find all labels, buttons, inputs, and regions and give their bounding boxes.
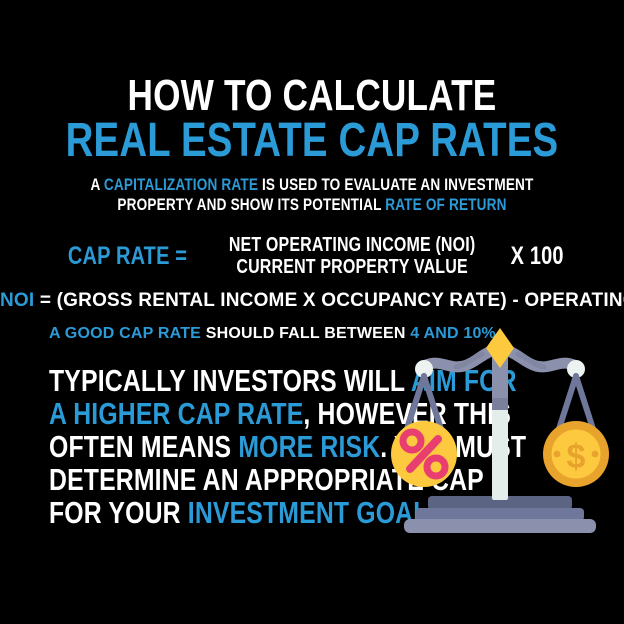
body-highlight-higher-cap-rate: A HIGHER CAP RATE [49, 396, 303, 431]
subtitle-line-1: A CAPITALIZATION RATE IS USED TO EVALUAT… [62, 175, 561, 195]
body-text-3a: OFTEN MEANS [49, 429, 238, 464]
balance-scale-illustration: $ [386, 322, 614, 544]
percent-coin-icon [391, 421, 457, 487]
good-cap-rate-highlight: A GOOD CAP RATE [49, 325, 201, 342]
svg-text:$: $ [567, 438, 586, 476]
body-highlight-more-risk: MORE RISK [238, 429, 380, 464]
body-line-4: DETERMINE AN APPROPRIATE CAP [49, 463, 385, 496]
scale-base-icon [404, 496, 596, 533]
scale-column-joint-icon [492, 398, 508, 410]
dollar-coin-icon: $ [543, 421, 609, 487]
diamond-ornament-icon [486, 328, 514, 368]
noi-label: NOI [0, 290, 34, 311]
formula-fraction: NET OPERATING INCOME (NOI) CURRENT PROPE… [198, 234, 506, 278]
cap-rate-formula: CAP RATE = NET OPERATING INCOME (NOI) CU… [0, 234, 624, 278]
body-line-2: A HIGHER CAP RATE, HOWEVER THIS [49, 397, 385, 430]
page-title: HOW TO CALCULATE REAL ESTATE CAP RATES [0, 76, 624, 164]
noi-definition: NOI = (GROSS RENTAL INCOME X OCCUPANCY R… [0, 290, 624, 312]
body-text-5a: FOR YOUR [49, 495, 188, 530]
formula-lead-label: CAP RATE = [68, 243, 187, 269]
title-line-2: REAL ESTATE CAP RATES [62, 118, 561, 164]
scale-column-lower-icon [492, 408, 508, 500]
noi-definition-inner: NOI = (GROSS RENTAL INCOME X OCCUPANCY R… [0, 290, 624, 311]
subtitle-text-a: A [90, 175, 103, 194]
noi-expression: = (GROSS RENTAL INCOME X OCCUPANCY RATE)… [34, 290, 624, 311]
body-line-1: TYPICALLY INVESTORS WILL AIM FOR [49, 364, 385, 397]
subtitle-text-d: PROPERTY AND SHOW ITS POTENTIAL [117, 195, 385, 214]
formula-denominator: CURRENT PROPERTY VALUE [229, 256, 476, 278]
formula-multiplier: X 100 [511, 243, 564, 269]
subtitle: A CAPITALIZATION RATE IS USED TO EVALUAT… [0, 175, 624, 215]
formula-numerator: NET OPERATING INCOME (NOI) [229, 234, 476, 256]
body-text-1a: TYPICALLY INVESTORS WILL [49, 363, 411, 398]
body-line-3: OFTEN MEANS MORE RISK. YOU MUST [49, 430, 385, 463]
subtitle-highlight-capitalization-rate: CAPITALIZATION RATE [104, 175, 258, 194]
infographic-page: HOW TO CALCULATE REAL ESTATE CAP RATES A… [0, 0, 624, 624]
body-line-5: FOR YOUR INVESTMENT GOALS [49, 496, 385, 529]
subtitle-line-2: PROPERTY AND SHOW ITS POTENTIAL RATE OF … [62, 195, 561, 215]
subtitle-highlight-rate-of-return: RATE OF RETURN [385, 195, 506, 214]
good-cap-rate-text: SHOULD FALL BETWEEN [201, 325, 410, 342]
title-line-1: HOW TO CALCULATE [62, 76, 561, 116]
subtitle-text-c: IS USED TO EVALUATE AN INVESTMENT [258, 175, 533, 194]
